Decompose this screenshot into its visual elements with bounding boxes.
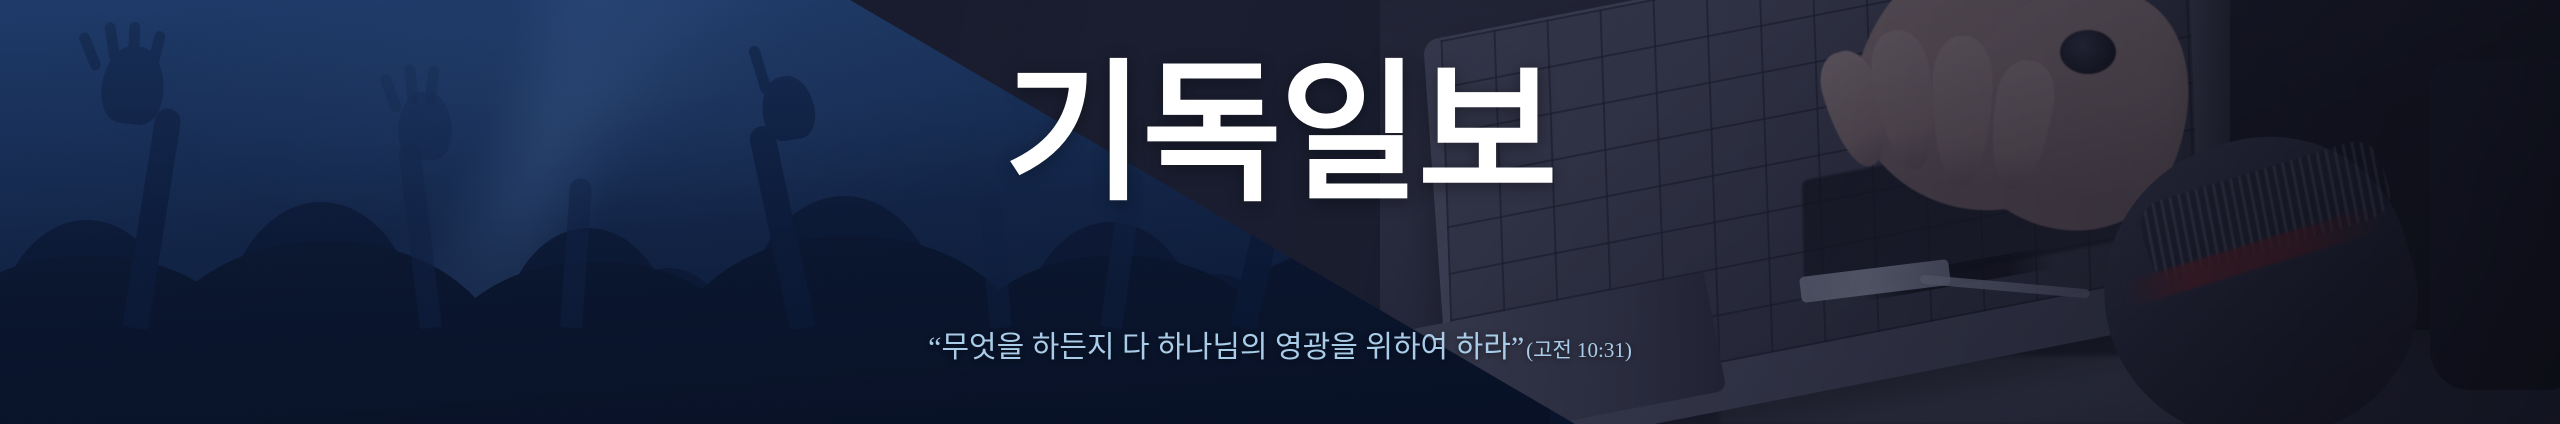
site-header-banner: 기독일보 “무엇을 하든지 다 하나님의 영광을 위하여 하라”(고전 10:3… bbox=[0, 0, 2560, 424]
